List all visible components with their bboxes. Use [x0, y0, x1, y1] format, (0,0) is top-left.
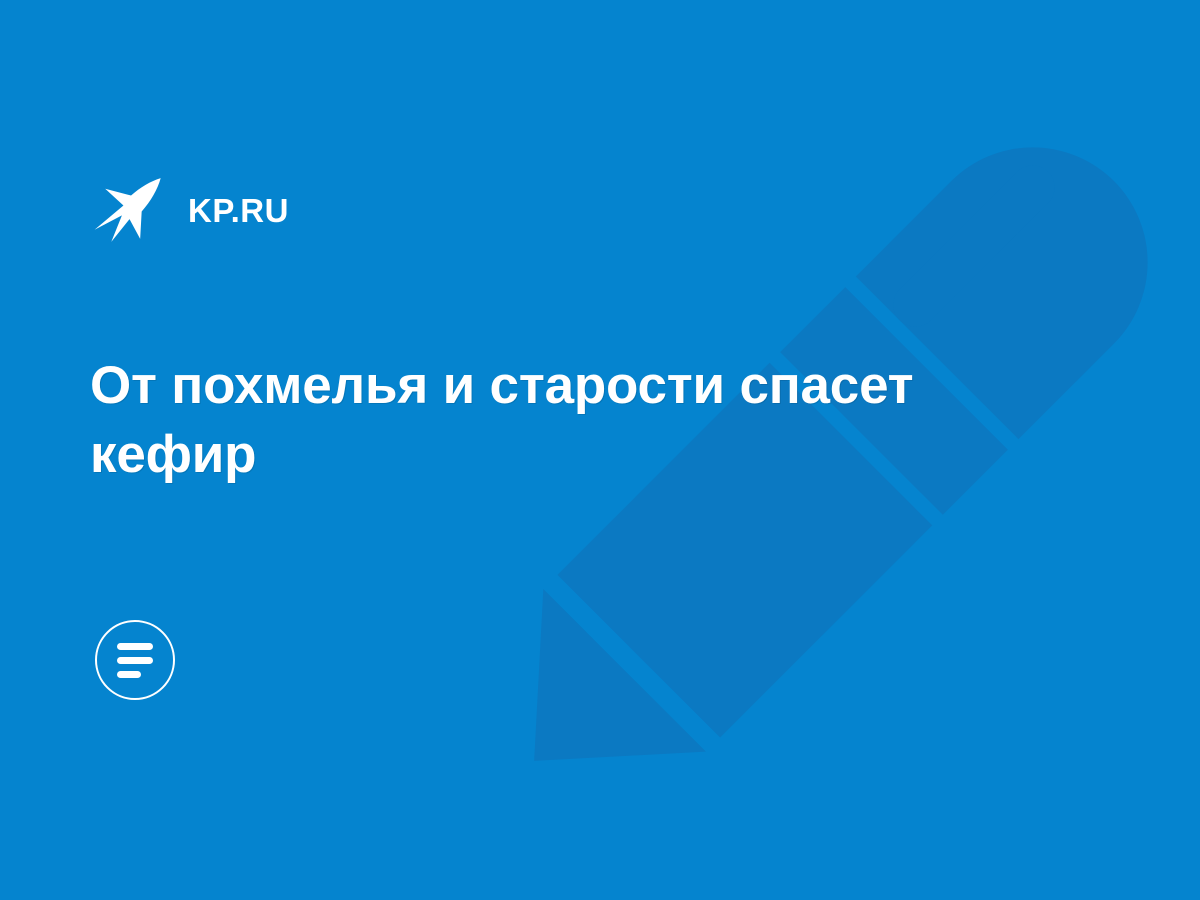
article-lines-icon-bar-3: [117, 671, 141, 678]
article-lines-icon-bar-2: [117, 657, 153, 664]
article-title-line-2: кефир: [90, 425, 256, 484]
site-logo-text: KP.RU: [188, 194, 289, 227]
article-title: От похмелья и старости спасет кефир: [90, 352, 990, 490]
swallow-bird-icon: [90, 172, 166, 248]
article-title-line-1: От похмелья и старости спасет: [90, 356, 913, 415]
read-article-button[interactable]: [95, 620, 175, 700]
site-logo[interactable]: KP.RU: [90, 172, 289, 248]
article-promo-card: KP.RU От похмелья и старости спасет кефи…: [0, 0, 1200, 900]
article-lines-icon-bar-1: [117, 643, 153, 650]
